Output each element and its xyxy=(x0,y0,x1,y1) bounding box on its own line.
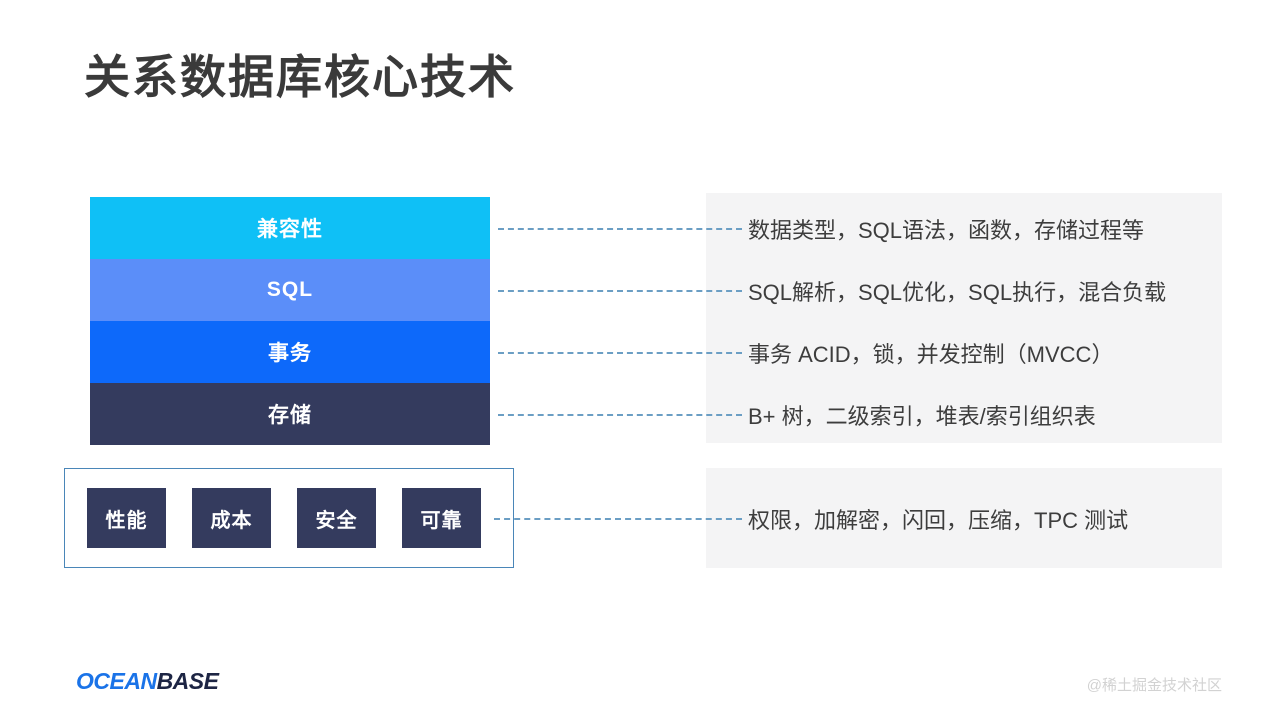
stack-layer-transaction[interactable]: 事务 xyxy=(90,321,490,383)
connector-line-compatibility xyxy=(498,228,742,230)
stack-layer-label: 存储 xyxy=(268,399,312,429)
attribute-chip-label: 成本 xyxy=(211,504,253,533)
attribute-group-box: 性能 成本 安全 可靠 xyxy=(64,468,514,568)
connector-line-attributes xyxy=(494,518,742,520)
attribute-chip-label: 安全 xyxy=(316,504,358,533)
attribute-chip-security[interactable]: 安全 xyxy=(297,488,376,548)
connector-line-transaction xyxy=(498,352,742,354)
logo-text-ocean: OCEAN xyxy=(76,668,157,694)
stack-layer-label: 事务 xyxy=(268,337,312,367)
description-text-storage: B+ 树，二级索引，堆表/索引组织表 xyxy=(748,406,1096,428)
attribute-chip-label: 可靠 xyxy=(421,504,463,533)
description-text-compatibility: 数据类型，SQL语法，函数，存储过程等 xyxy=(748,220,1144,242)
description-text-transaction: 事务 ACID，锁，并发控制（MVCC） xyxy=(748,344,1113,366)
stack-layer-label: SQL xyxy=(267,278,313,302)
watermark: @稀土掘金技术社区 xyxy=(1087,674,1222,695)
attribute-chip-label: 性能 xyxy=(106,504,148,533)
layer-stack: 兼容性 SQL 事务 存储 xyxy=(90,197,490,445)
description-text-attributes: 权限，加解密，闪回，压缩，TPC 测试 xyxy=(748,510,1128,532)
stack-layer-label: 兼容性 xyxy=(257,213,323,243)
oceanbase-logo: OCEANBASE xyxy=(76,668,218,695)
attribute-chip-reliability[interactable]: 可靠 xyxy=(402,488,481,548)
connector-line-sql xyxy=(498,290,742,292)
stack-layer-sql[interactable]: SQL xyxy=(90,259,490,321)
logo-text-base: BASE xyxy=(157,668,219,694)
slide-canvas: 关系数据库核心技术 兼容性 SQL 事务 存储 性能 成本 安全 可靠 xyxy=(0,0,1280,720)
description-text-sql: SQL解析，SQL优化，SQL执行，混合负载 xyxy=(748,282,1166,304)
stack-layer-compatibility[interactable]: 兼容性 xyxy=(90,197,490,259)
attribute-chip-performance[interactable]: 性能 xyxy=(87,488,166,548)
page-title: 关系数据库核心技术 xyxy=(84,50,516,105)
stack-layer-storage[interactable]: 存储 xyxy=(90,383,490,445)
attribute-chip-cost[interactable]: 成本 xyxy=(192,488,271,548)
connector-line-storage xyxy=(498,414,742,416)
